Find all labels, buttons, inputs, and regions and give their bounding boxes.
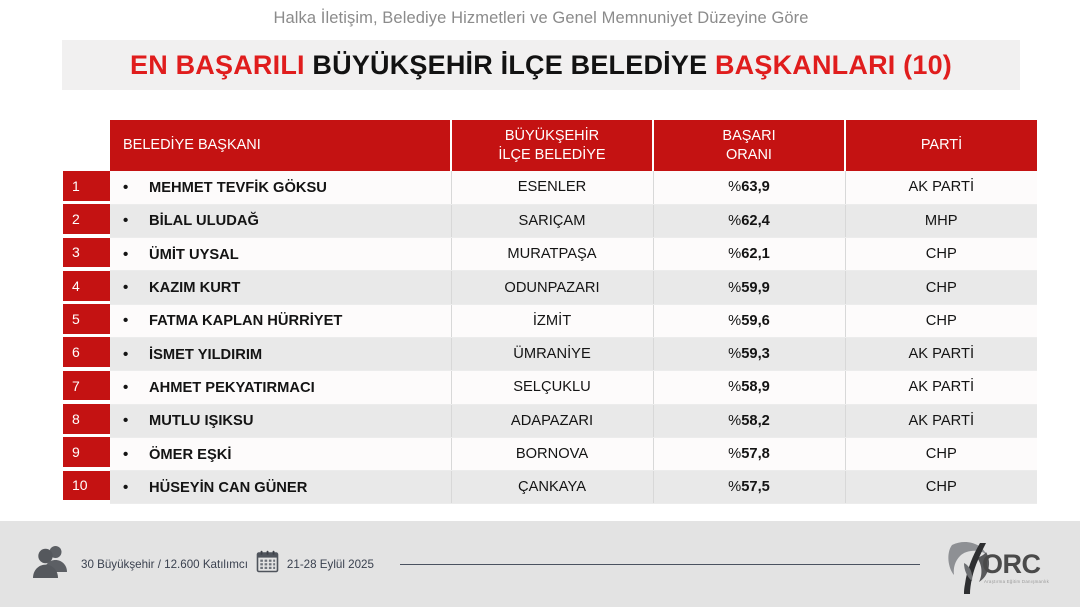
mayor-name-label: İSMET YILDIRIM	[149, 347, 262, 363]
cell-mayor-name: •ÖMER EŞKİ	[110, 437, 451, 470]
bullet-icon: •	[123, 412, 149, 429]
title-segment-1: EN BAŞARILI	[130, 50, 312, 80]
mayor-name-label: MEHMET TEVFİK GÖKSU	[149, 180, 327, 196]
cell-party: CHP	[845, 271, 1037, 304]
cell-mayor-name: •MUTLU IŞIKSU	[110, 404, 451, 437]
table-row: •ÜMİT UYSALMURATPAŞA%62,1CHP	[110, 238, 1037, 271]
table-row: •İSMET YILDIRIMÜMRANİYE%59,3AK PARTİ	[110, 337, 1037, 370]
cell-municipality: SELÇUKLU	[451, 371, 653, 404]
success-rate-value: 59,3	[741, 346, 770, 362]
success-rate-value: 59,9	[741, 280, 770, 296]
column-header-rate: BAŞARI ORANI	[653, 120, 845, 171]
rank-badge: 6	[63, 337, 110, 367]
cell-party: AK PARTİ	[845, 404, 1037, 437]
percent-sign: %	[728, 479, 741, 495]
cell-success-rate: %57,5	[653, 471, 845, 504]
cell-mayor-name: •İSMET YILDIRIM	[110, 337, 451, 370]
column-header-city: BÜYÜKŞEHİR İLÇE BELEDİYE	[451, 120, 653, 171]
column-header-rate-line2: ORANI	[654, 146, 844, 164]
cell-party: CHP	[845, 304, 1037, 337]
cell-mayor-name: •ÜMİT UYSAL	[110, 238, 451, 271]
cell-success-rate: %58,2	[653, 404, 845, 437]
cell-mayor-name: •KAZIM KURT	[110, 271, 451, 304]
mayor-name-label: BİLAL ULUDAĞ	[149, 213, 259, 229]
bullet-icon: •	[123, 179, 149, 196]
bullet-icon: •	[123, 446, 149, 463]
bullet-icon: •	[123, 212, 149, 229]
cell-success-rate: %59,6	[653, 304, 845, 337]
cell-mayor-name: •AHMET PEKYATIRMACI	[110, 371, 451, 404]
cell-success-rate: %59,9	[653, 271, 845, 304]
rank-badge: 8	[63, 404, 110, 434]
cell-party: CHP	[845, 471, 1037, 504]
bullet-icon: •	[123, 312, 149, 329]
cell-mayor-name: •MEHMET TEVFİK GÖKSU	[110, 171, 451, 204]
rank-badge-column: 12345678910	[63, 171, 110, 504]
title-segment-2: BÜYÜKŞEHİR İLÇE BELEDİYE	[312, 50, 715, 80]
header-row: BELEDİYE BAŞKANI BÜYÜKŞEHİR İLÇE BELEDİY…	[110, 120, 1037, 171]
cell-success-rate: %58,9	[653, 371, 845, 404]
orc-logo: ORC Araştırma Eğitim Danışmanlık	[942, 533, 1058, 595]
page-title: EN BAŞARILI BÜYÜKŞEHİR İLÇE BELEDİYE BAŞ…	[130, 50, 952, 81]
table-header: BELEDİYE BAŞKANI BÜYÜKŞEHİR İLÇE BELEDİY…	[110, 120, 1037, 171]
sample-size-label: 30 Büyükşehir / 12.600 Katılımcı	[81, 558, 248, 571]
rank-badge: 10	[63, 471, 110, 501]
column-header-city-line2: İLÇE BELEDİYE	[452, 146, 652, 164]
cell-success-rate: %59,3	[653, 337, 845, 370]
title-segment-3: BAŞKANLARI (10)	[715, 50, 952, 80]
cell-mayor-name: •FATMA KAPLAN HÜRRİYET	[110, 304, 451, 337]
cell-municipality: SARIÇAM	[451, 204, 653, 237]
cell-municipality: İZMİT	[451, 304, 653, 337]
bullet-icon: •	[123, 246, 149, 263]
table-row: •MEHMET TEVFİK GÖKSUESENLER%63,9AK PARTİ	[110, 171, 1037, 204]
ranking-grid: BELEDİYE BAŞKANI BÜYÜKŞEHİR İLÇE BELEDİY…	[110, 120, 1037, 504]
cell-party: CHP	[845, 437, 1037, 470]
rank-badge: 3	[63, 238, 110, 268]
rank-badge: 7	[63, 371, 110, 401]
percent-sign: %	[728, 213, 741, 229]
rank-badge: 1	[63, 171, 110, 201]
footer-bar: 30 Büyükşehir / 12.600 Katılımcı 21-28 E…	[0, 521, 1080, 607]
cell-party: AK PARTİ	[845, 371, 1037, 404]
cell-success-rate: %62,4	[653, 204, 845, 237]
cell-municipality: BORNOVA	[451, 437, 653, 470]
success-rate-value: 62,4	[741, 213, 770, 229]
cell-municipality: ADAPAZARI	[451, 404, 653, 437]
mayor-name-label: ÜMİT UYSAL	[149, 247, 239, 263]
bullet-icon: •	[123, 279, 149, 296]
footer-divider-line	[400, 564, 920, 565]
mayor-name-label: ÖMER EŞKİ	[149, 447, 231, 463]
cell-municipality: ÜMRANİYE	[451, 337, 653, 370]
orc-logo-subtitle: Araştırma Eğitim Danışmanlık	[984, 579, 1049, 584]
bullet-icon: •	[123, 479, 149, 496]
mayor-name-label: KAZIM KURT	[149, 280, 240, 296]
table-row: •KAZIM KURTODUNPAZARI%59,9CHP	[110, 271, 1037, 304]
table-row: •FATMA KAPLAN HÜRRİYETİZMİT%59,6CHP	[110, 304, 1037, 337]
bullet-icon: •	[123, 379, 149, 396]
cell-party: AK PARTİ	[845, 171, 1037, 204]
mayor-name-label: MUTLU IŞIKSU	[149, 413, 253, 429]
bullet-icon: •	[123, 346, 149, 363]
percent-sign: %	[728, 379, 741, 395]
rank-badge: 2	[63, 204, 110, 234]
cell-success-rate: %57,8	[653, 437, 845, 470]
column-header-city-line1: BÜYÜKŞEHİR	[452, 127, 652, 145]
page-subtitle: Halka İletişim, Belediye Hizmetleri ve G…	[62, 9, 1020, 28]
column-header-name: BELEDİYE BAŞKANI	[110, 120, 451, 171]
percent-sign: %	[728, 346, 741, 362]
table-row: •BİLAL ULUDAĞSARIÇAM%62,4MHP	[110, 204, 1037, 237]
mayor-name-label: HÜSEYİN CAN GÜNER	[149, 480, 307, 496]
percent-sign: %	[728, 413, 741, 429]
calendar-icon	[255, 549, 280, 579]
percent-sign: %	[728, 313, 741, 329]
table-row: •ÖMER EŞKİBORNOVA%57,8CHP	[110, 437, 1037, 470]
cell-success-rate: %63,9	[653, 171, 845, 204]
cell-municipality: ESENLER	[451, 171, 653, 204]
success-rate-value: 58,2	[741, 413, 770, 429]
cell-party: AK PARTİ	[845, 337, 1037, 370]
table-row: •AHMET PEKYATIRMACISELÇUKLU%58,9AK PARTİ	[110, 371, 1037, 404]
orc-logo-text: ORC	[982, 549, 1041, 580]
percent-sign: %	[728, 179, 741, 195]
table-body: •MEHMET TEVFİK GÖKSUESENLER%63,9AK PARTİ…	[110, 171, 1037, 504]
cell-mayor-name: •BİLAL ULUDAĞ	[110, 204, 451, 237]
percent-sign: %	[728, 446, 741, 462]
success-rate-value: 57,5	[741, 479, 770, 495]
column-header-rate-line1: BAŞARI	[654, 127, 844, 145]
mayor-name-label: FATMA KAPLAN HÜRRİYET	[149, 313, 342, 329]
success-rate-value: 63,9	[741, 179, 770, 195]
success-rate-value: 62,1	[741, 246, 770, 262]
success-rate-value: 59,6	[741, 313, 770, 329]
table-row: •HÜSEYİN CAN GÜNERÇANKAYA%57,5CHP	[110, 471, 1037, 504]
success-rate-value: 58,9	[741, 379, 770, 395]
table-row: •MUTLU IŞIKSUADAPAZARI%58,2AK PARTİ	[110, 404, 1037, 437]
cell-mayor-name: •HÜSEYİN CAN GÜNER	[110, 471, 451, 504]
percent-sign: %	[728, 246, 741, 262]
rank-badge: 9	[63, 437, 110, 467]
people-icon	[30, 541, 72, 588]
cell-municipality: ODUNPAZARI	[451, 271, 653, 304]
cell-party: CHP	[845, 238, 1037, 271]
percent-sign: %	[728, 280, 741, 296]
success-rate-value: 57,8	[741, 446, 770, 462]
rank-badge: 5	[63, 304, 110, 334]
cell-success-rate: %62,1	[653, 238, 845, 271]
cell-municipality: MURATPAŞA	[451, 238, 653, 271]
column-header-party: PARTİ	[845, 120, 1037, 171]
title-banner: EN BAŞARILI BÜYÜKŞEHİR İLÇE BELEDİYE BAŞ…	[62, 40, 1020, 90]
rank-badge: 4	[63, 271, 110, 301]
cell-party: MHP	[845, 204, 1037, 237]
cell-municipality: ÇANKAYA	[451, 471, 653, 504]
survey-dates-label: 21-28 Eylül 2025	[287, 558, 374, 571]
mayor-name-label: AHMET PEKYATIRMACI	[149, 380, 315, 396]
